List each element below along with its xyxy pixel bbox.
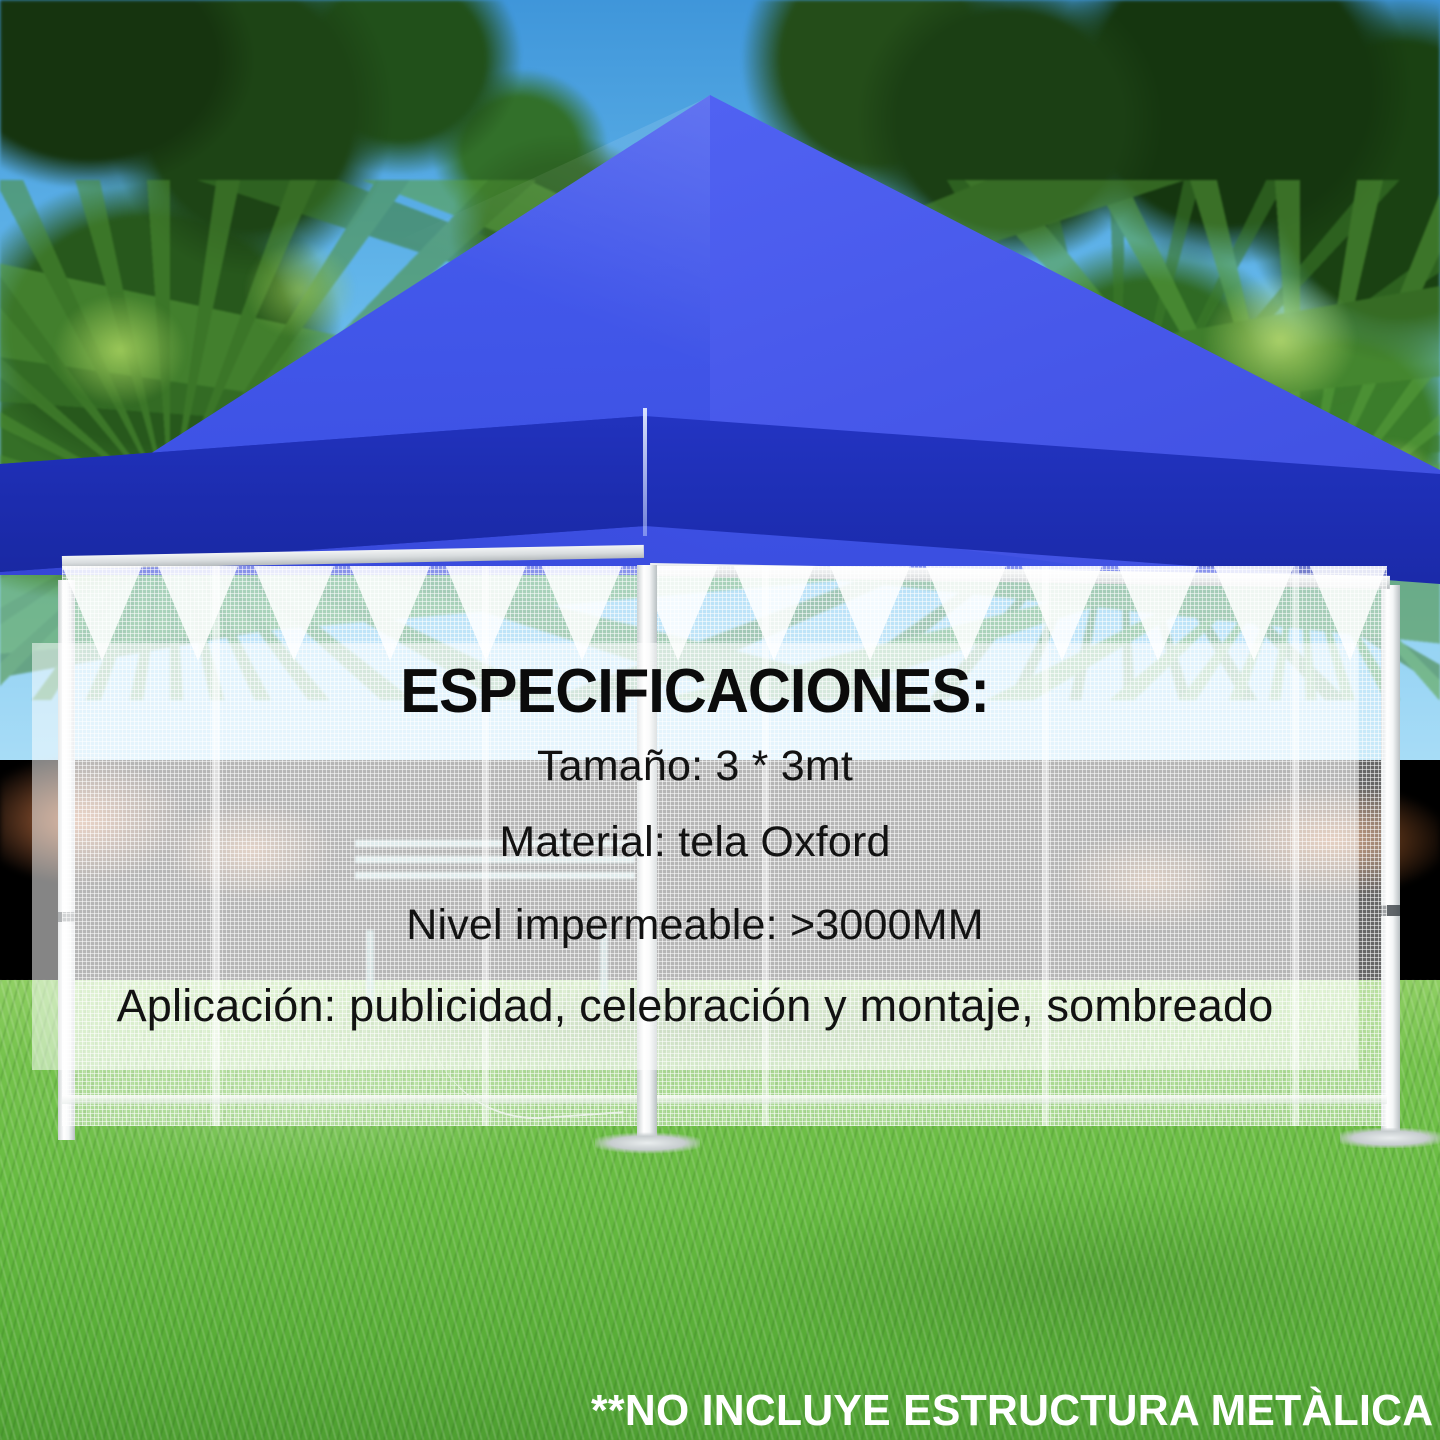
spec-line-application: Aplicación: publicidad, celebración y mo… (117, 982, 1274, 1029)
specifications-title: ESPECIFICACIONES: (401, 657, 990, 726)
spec-line-size: Tamaño: 3 * 3mt (537, 744, 853, 789)
spec-line-waterproof: Nivel impermeable: >3000MM (406, 903, 984, 948)
tent-foot-right (1340, 1128, 1440, 1148)
tent-foot-center (595, 1132, 700, 1154)
mesh-bottom-hem (62, 1095, 1387, 1104)
product-image: ESPECIFICACIONES: Tamaño: 3 * 3mt Materi… (0, 0, 1440, 1440)
disclaimer-text: **NO INCLUYE ESTRUCTURA METÀLICA (591, 1386, 1433, 1436)
specifications-panel: ESPECIFICACIONES: Tamaño: 3 * 3mt Materi… (32, 643, 1358, 1070)
disclaimer-banner: **NO INCLUYE ESTRUCTURA METÀLICA (0, 1382, 1440, 1440)
spec-line-material: Material: tela Oxford (499, 820, 890, 865)
canopy-corner-seam (643, 408, 647, 536)
